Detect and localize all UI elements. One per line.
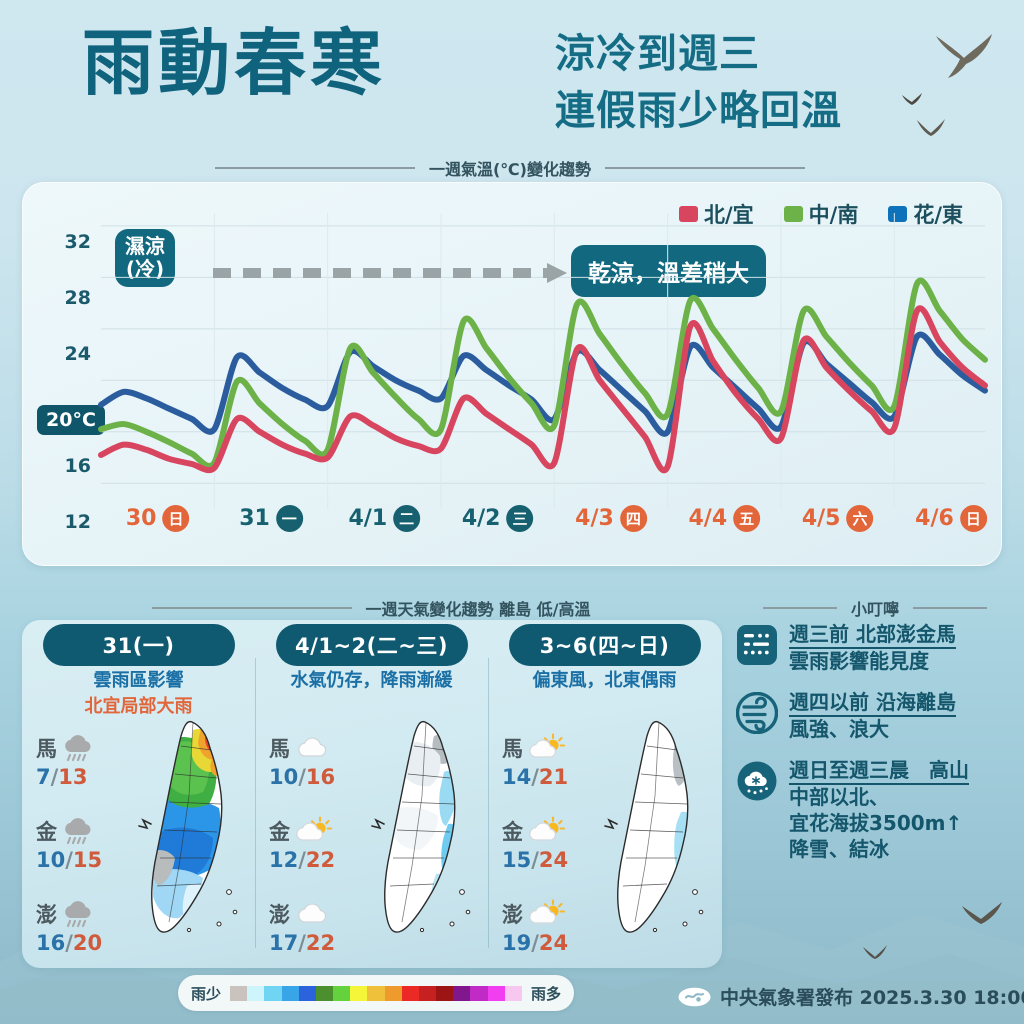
island-name-row: 馬	[502, 732, 598, 764]
temp-separator: /	[531, 848, 539, 872]
x-tick-date: 31	[239, 506, 270, 531]
temp-separator: /	[65, 931, 73, 955]
island-name: 馬	[36, 733, 57, 763]
island-name-row: 金	[502, 815, 598, 847]
temp-high: 24	[539, 848, 568, 872]
card-description: 偏東風，北東偶雨	[488, 668, 721, 694]
taiwan-rainfall-map	[364, 716, 484, 946]
credit-text: 中央氣象署發布 2025.3.30 18:00	[720, 983, 1024, 1010]
map-container	[597, 716, 717, 946]
weather-card[interactable]: 3~6(四~日)偏東風，北東偶雨馬 14/21金 15/24澎	[488, 620, 721, 968]
card-description: 水氣仍存，降雨漸緩	[255, 668, 488, 694]
rain-scale-segment	[316, 986, 333, 1001]
temperature-chart-panel: 北/宜 中/南 花/東 32 28 24 16 12 20°C 濕涼 (冷) 乾…	[22, 182, 1002, 566]
map-container	[131, 716, 251, 946]
temp-high: 16	[306, 765, 335, 789]
island-name: 金	[502, 816, 523, 846]
rain-scale-segment	[247, 986, 264, 1001]
cards-rule-label: 一週天氣變化趨勢 離島 低/高溫	[366, 596, 591, 620]
island-temperature-range: 19/24	[502, 931, 598, 955]
card-period-pill: 4/1~2(二~三)	[276, 624, 468, 666]
temp-low: 17	[269, 931, 298, 955]
island-name-row: 澎	[502, 898, 598, 930]
x-tick-4-1: 4/1二	[349, 505, 421, 532]
tip-item: 週日至週三晨 高山中部以北、宜花海拔3500m↑降雪、結冰	[736, 758, 1016, 862]
temp-low: 19	[502, 931, 531, 955]
card-period-pill: 3~6(四~日)	[509, 624, 701, 666]
temp-high: 20	[73, 931, 102, 955]
x-tick-date: 4/5	[802, 506, 841, 531]
island-name-row: 澎	[269, 898, 365, 930]
x-tick-weekday-badge: 三	[506, 505, 533, 532]
tip-detail-line: 風強、浪大	[789, 717, 956, 743]
island-name-row: 馬	[36, 732, 132, 764]
temp-high: 21	[539, 765, 568, 789]
x-tick-4-2: 4/2三	[462, 505, 534, 532]
trend-arrow-icon	[213, 263, 567, 283]
page-title: 雨動春寒	[82, 24, 386, 103]
rain-scale-colorbar	[230, 986, 522, 1001]
partly-sunny-icon	[526, 733, 566, 763]
temp-low: 10	[269, 765, 298, 789]
rule-line-left	[152, 607, 352, 609]
wind-icon	[736, 692, 778, 734]
island-temperature-range: 7/13	[36, 765, 132, 789]
x-tick-date: 4/1	[349, 506, 388, 531]
rain-icon	[60, 733, 100, 763]
x-tick-4-4: 4/4五	[689, 505, 761, 532]
rain-icon	[60, 816, 100, 846]
weather-cards-panel: 31(一)雲雨區影響北宜局部大雨馬 7/13金 10/15澎	[22, 620, 722, 968]
rule-line-right	[605, 167, 805, 169]
rain-scale-segment	[333, 986, 350, 1001]
island-temperature-range: 16/20	[36, 931, 132, 955]
weather-card[interactable]: 31(一)雲雨區影響北宜局部大雨馬 7/13金 10/15澎	[22, 620, 255, 968]
island-forecast-item: 馬 7/13	[36, 732, 132, 789]
x-tick-weekday-badge: 日	[960, 505, 987, 532]
x-tick-4-5: 4/5六	[802, 505, 874, 532]
rain-scale-segment	[299, 986, 316, 1001]
tips-section-rule: 小叮嚀	[730, 596, 1020, 620]
tip-body: 週四以前 沿海離島風強、浪大	[789, 690, 956, 743]
temp-low: 12	[269, 848, 298, 872]
x-tick-30: 30日	[126, 505, 190, 532]
x-tick-weekday-badge: 一	[276, 505, 303, 532]
rain-scale-high-label: 雨多	[531, 983, 561, 1004]
partly-sunny-icon	[526, 899, 566, 929]
island-forecast-list: 馬 7/13金 10/15澎 16/20	[36, 732, 132, 981]
island-forecast-list: 馬10/16金 12/22澎17/22	[269, 732, 365, 981]
temp-high: 13	[58, 765, 87, 789]
rain-scale-segment	[264, 986, 281, 1001]
island-temperature-range: 10/16	[269, 765, 365, 789]
island-temperature-range: 14/21	[502, 765, 598, 789]
x-tick-4-3: 4/3四	[575, 505, 647, 532]
temp-high: 22	[306, 931, 335, 955]
rain-scale-segment	[367, 986, 384, 1001]
tip-item: 週三前 北部澎金馬雲雨影響能見度	[736, 622, 1016, 675]
rain-scale-segment	[350, 986, 367, 1001]
subtitle-line-1: 涼冷到週三	[555, 26, 842, 83]
temp-separator: /	[298, 765, 306, 789]
x-tick-date: 4/4	[689, 506, 728, 531]
island-temperature-range: 10/15	[36, 848, 132, 872]
card-description-line-1: 偏東風，北東偶雨	[488, 668, 721, 694]
x-tick-weekday-badge: 日	[162, 505, 189, 532]
tip-headline: 週三前 北部澎金馬	[789, 622, 956, 649]
tip-detail-line: 中部以北、	[789, 785, 969, 811]
temp-low: 16	[36, 931, 65, 955]
temp-low: 14	[502, 765, 531, 789]
tip-detail-line: 雲雨影響能見度	[789, 649, 956, 675]
tip-icon-wrap	[736, 692, 778, 734]
temp-separator: /	[65, 848, 73, 872]
temp-low: 15	[502, 848, 531, 872]
card-divider	[488, 658, 489, 948]
header: 雨動春寒 涼冷到週三 連假雨少略回溫	[0, 0, 1024, 152]
rain-scale-segment	[453, 986, 470, 1001]
temp-high: 15	[73, 848, 102, 872]
card-description-line-1: 雲雨區影響	[22, 668, 255, 694]
partly-sunny-icon	[293, 816, 333, 846]
tip-icon-wrap	[736, 624, 778, 666]
island-forecast-item: 澎 16/20	[36, 898, 132, 955]
rule-line-right	[913, 607, 987, 609]
rain-scale-segment	[282, 986, 299, 1001]
island-forecast-item: 澎 19/24	[502, 898, 598, 955]
cloud-icon	[293, 899, 333, 929]
island-temperature-range: 15/24	[502, 848, 598, 872]
partly-sunny-icon	[526, 816, 566, 846]
cloud-icon	[293, 733, 333, 763]
tip-headline: 週四以前 沿海離島	[789, 690, 956, 717]
island-temperature-range: 17/22	[269, 931, 365, 955]
chart-section-rule: 一週氣溫(℃)變化趨勢	[110, 156, 910, 180]
tips-rule-label: 小叮嚀	[851, 596, 899, 620]
island-name: 澎	[269, 899, 290, 929]
x-tick-date: 4/2	[462, 506, 501, 531]
island-name: 馬	[269, 733, 290, 763]
island-forecast-item: 金 10/15	[36, 815, 132, 872]
rain-scale-segment	[505, 986, 522, 1001]
island-name: 澎	[36, 899, 57, 929]
tip-body: 週日至週三晨 高山中部以北、宜花海拔3500m↑降雪、結冰	[789, 758, 969, 862]
fog-visibility-icon	[736, 624, 778, 666]
temp-separator: /	[531, 765, 539, 789]
cards-section-rule: 一週天氣變化趨勢 離島 低/高溫	[16, 596, 726, 620]
rain-scale-segment	[230, 986, 247, 1001]
temp-high: 24	[539, 931, 568, 955]
temp-low: 10	[36, 848, 65, 872]
rain-scale-segment	[419, 986, 436, 1001]
subtitle-line-2: 連假雨少略回溫	[555, 83, 842, 140]
island-name-row: 澎	[36, 898, 132, 930]
rain-scale-legend: 雨少 雨多	[178, 975, 574, 1011]
island-name: 馬	[502, 733, 523, 763]
tip-detail-line: 宜花海拔3500m↑	[789, 811, 969, 837]
island-forecast-item: 金 12/22	[269, 815, 365, 872]
cwa-logo-icon	[678, 987, 711, 1007]
snow-cloud-icon	[736, 760, 778, 802]
tip-detail-line: 降雪、結冰	[789, 837, 969, 863]
tip-headline: 週日至週三晨 高山	[789, 758, 969, 785]
temp-separator: /	[531, 931, 539, 955]
taiwan-rainfall-map	[131, 716, 251, 946]
card-description-line-1: 水氣仍存，降雨漸緩	[255, 668, 488, 694]
x-tick-weekday-badge: 六	[846, 505, 873, 532]
rain-icon	[60, 899, 100, 929]
island-name: 金	[269, 816, 290, 846]
page-subtitle: 涼冷到週三 連假雨少略回溫	[555, 26, 842, 140]
x-tick-weekday-badge: 二	[393, 505, 420, 532]
rain-scale-low-label: 雨少	[191, 983, 221, 1004]
card-description: 雲雨區影響北宜局部大雨	[22, 668, 255, 720]
temp-separator: /	[298, 848, 306, 872]
taiwan-rainfall-map	[597, 716, 717, 946]
tips-panel: 週三前 北部澎金馬雲雨影響能見度 週四以前 沿海離島風強、浪大 週日至週三晨 高…	[736, 622, 1016, 877]
x-tick-weekday-badge: 四	[620, 505, 647, 532]
x-tick-31: 31一	[239, 505, 303, 532]
tip-body: 週三前 北部澎金馬雲雨影響能見度	[789, 622, 956, 675]
x-tick-date: 4/6	[915, 506, 954, 531]
island-name: 澎	[502, 899, 523, 929]
island-name-row: 金	[269, 815, 365, 847]
island-name-row: 金	[36, 815, 132, 847]
rain-scale-segment	[488, 986, 505, 1001]
rain-scale-segment	[385, 986, 402, 1001]
temp-low: 7	[36, 765, 51, 789]
footer-credit: 中央氣象署發布 2025.3.30 18:00	[678, 983, 1024, 1010]
chart-rule-label: 一週氣溫(℃)變化趨勢	[429, 156, 591, 180]
map-container	[364, 716, 484, 946]
island-name: 金	[36, 816, 57, 846]
card-period-pill: 31(一)	[43, 624, 235, 666]
rule-line-left	[763, 607, 837, 609]
x-tick-weekday-badge: 五	[733, 505, 760, 532]
island-forecast-list: 馬 14/21金 15/24澎	[502, 732, 598, 981]
tip-item: 週四以前 沿海離島風強、浪大	[736, 690, 1016, 743]
rain-scale-segment	[402, 986, 419, 1001]
rain-scale-segment	[436, 986, 453, 1001]
x-tick-date: 4/3	[575, 506, 614, 531]
island-forecast-item: 馬10/16	[269, 732, 365, 789]
island-name-row: 馬	[269, 732, 365, 764]
bird-icon	[960, 900, 1004, 931]
rule-line-left	[215, 167, 415, 169]
x-tick-4-6: 4/6日	[915, 505, 987, 532]
rain-scale-segment	[470, 986, 487, 1001]
tip-icon-wrap	[736, 760, 778, 802]
card-divider	[255, 658, 256, 948]
weather-card[interactable]: 4/1~2(二~三)水氣仍存，降雨漸緩馬10/16金 12/22澎17/22	[255, 620, 488, 968]
temp-separator: /	[298, 931, 306, 955]
island-forecast-item: 澎17/22	[269, 898, 365, 955]
bird-icon	[862, 944, 888, 965]
temp-high: 22	[306, 848, 335, 872]
chart-x-axis: 30日31一4/1二4/2三4/3四4/4五4/5六4/6日	[23, 505, 1003, 553]
island-forecast-item: 馬 14/21	[502, 732, 598, 789]
island-forecast-item: 金 15/24	[502, 815, 598, 872]
x-tick-date: 30	[126, 506, 157, 531]
island-temperature-range: 12/22	[269, 848, 365, 872]
